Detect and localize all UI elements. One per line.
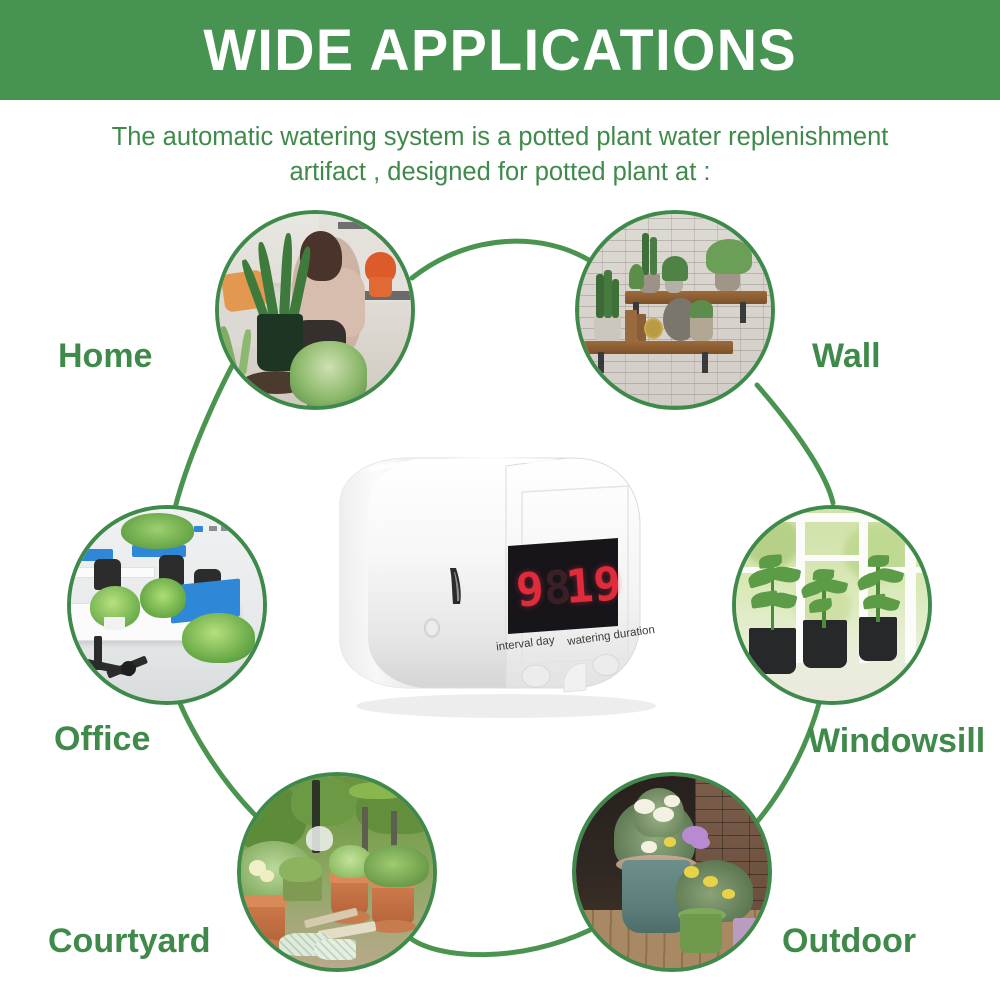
infographic-page: WIDE APPLICATIONS The automatic watering… — [0, 0, 1000, 1000]
watering-duration-button — [593, 655, 619, 676]
spot-label-home: Home — [58, 337, 152, 376]
photo-circle-courtyard[interactable] — [237, 772, 437, 972]
watering-device[interactable]: 9 8 1 9 interval day watering duration — [310, 452, 690, 722]
subtitle-line-2: artifact , designed for potted plant at … — [50, 155, 950, 190]
photo-courtyard — [241, 776, 433, 968]
led-digit-3: 1 — [564, 562, 595, 610]
photo-office — [71, 509, 263, 701]
photo-circle-office[interactable] — [67, 505, 267, 705]
photo-windowsill — [736, 509, 928, 701]
photo-circle-windowsill[interactable] — [732, 505, 932, 705]
led-digit-2: 8 — [542, 564, 567, 611]
subtitle-line-1: The automatic watering system is a potte… — [50, 120, 950, 155]
spot-label-office: Office — [54, 720, 150, 759]
spot-label-windowsill: Windowsill — [808, 722, 985, 761]
spot-label-courtyard: Courtyard — [48, 922, 210, 961]
device-illustration — [310, 452, 690, 722]
header-banner: WIDE APPLICATIONS — [0, 0, 1000, 100]
led-digits: 9 8 1 9 — [508, 547, 621, 626]
photo-outdoor — [576, 776, 768, 968]
photo-home — [219, 214, 411, 406]
photo-circle-outdoor[interactable] — [572, 772, 772, 972]
photo-wall — [579, 214, 771, 406]
interval-day-button — [522, 665, 550, 687]
photo-circle-wall[interactable] — [575, 210, 775, 410]
page-title: WIDE APPLICATIONS — [203, 17, 797, 84]
led-digit-1: 9 — [515, 565, 546, 613]
subtitle: The automatic watering system is a potte… — [50, 120, 950, 190]
spot-label-wall: Wall — [812, 337, 881, 376]
spot-label-outdoor: Outdoor — [782, 922, 916, 961]
led-digit-4: 9 — [592, 560, 623, 608]
photo-circle-home[interactable] — [215, 210, 415, 410]
